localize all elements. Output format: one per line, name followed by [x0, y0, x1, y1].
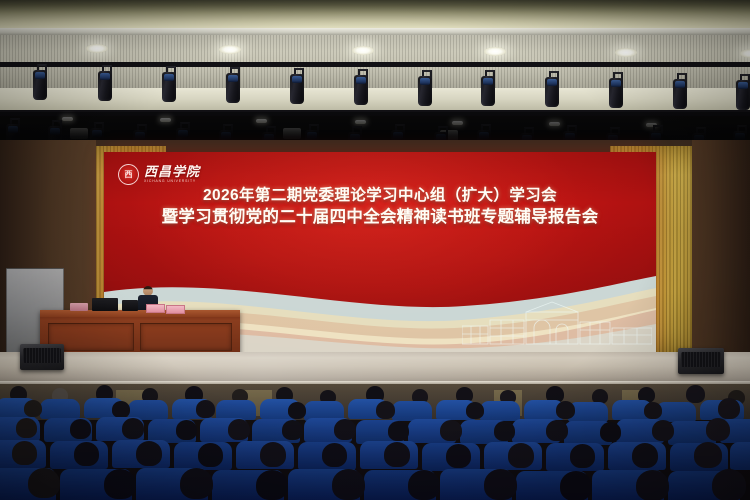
university-seal-icon: 西 [118, 164, 139, 185]
audience-head [198, 443, 223, 467]
desk-nameplate [166, 305, 185, 314]
downlight-icon [219, 45, 241, 54]
desk-nameplate [146, 304, 165, 313]
audience-head [686, 385, 705, 403]
audience-head [408, 470, 440, 500]
audience-head [74, 442, 99, 466]
audience-head [28, 468, 60, 498]
audience-head [712, 469, 746, 500]
stage-wall-right [692, 140, 750, 355]
audience-head [694, 442, 722, 468]
audience-head [706, 418, 730, 441]
campus-building-graphic-right [462, 300, 652, 348]
stage-floor-reflection [0, 352, 750, 384]
audience-head [180, 468, 213, 499]
ceiling-soffit [0, 0, 750, 30]
audience-head [288, 402, 306, 419]
seat [40, 399, 80, 419]
audience-head [332, 469, 365, 500]
podium-table [40, 310, 240, 357]
downlight-icon [615, 48, 637, 57]
audience-head [104, 469, 136, 499]
audience-head [282, 420, 303, 440]
audience-head [384, 442, 410, 467]
auditorium-photo: 西 西昌学院 XICHANG UNIVERSITY 2026年第二期党委理论学习… [0, 0, 750, 500]
audience-head [494, 421, 515, 441]
audience-head [16, 418, 37, 438]
audience-head [632, 443, 658, 468]
audience-head [718, 398, 740, 419]
university-logo: 西 西昌学院 XICHANG UNIVERSITY [118, 164, 200, 185]
audience-head [196, 400, 215, 418]
audience-head [560, 471, 592, 500]
seat [730, 442, 750, 470]
audience-head [70, 419, 91, 439]
audience-head [376, 401, 395, 419]
audience-head [644, 402, 662, 419]
audience-head [334, 419, 356, 440]
audience-head [24, 400, 42, 417]
audience-head [112, 401, 130, 418]
audience-head [122, 418, 144, 439]
audience-head [652, 420, 674, 441]
lighting-truss [0, 62, 750, 67]
seat [216, 400, 256, 420]
podium-panel [140, 323, 232, 351]
seat [392, 401, 432, 421]
audience-head [600, 422, 621, 442]
audience-seating [0, 384, 750, 500]
floor-monitor-speaker-right [678, 348, 724, 374]
podium-tabletop [40, 310, 240, 317]
audience-head [570, 444, 595, 468]
audience-head [322, 443, 347, 467]
downlight-icon [484, 47, 506, 56]
audience-head [176, 420, 197, 440]
downlight-icon [86, 44, 108, 53]
audience-head [508, 443, 534, 468]
seat [480, 401, 520, 421]
university-name-cn: 西昌学院 [144, 165, 200, 178]
ceiling-soffit-lip [0, 28, 750, 35]
audience-head [388, 421, 409, 441]
downlight-icon [352, 46, 374, 55]
ceiling [0, 0, 750, 152]
audience-head [260, 442, 286, 467]
banner-title-line-2: 暨学习贯彻党的二十届四中全会精神读书班专题辅导报告会 [104, 206, 656, 229]
audience-head [466, 402, 484, 419]
audience-head [256, 470, 288, 500]
floor-monitor-speaker-left [20, 344, 64, 370]
desk-nameplate [70, 303, 88, 311]
seat [656, 402, 696, 422]
audience-head [228, 419, 250, 440]
audience-head [484, 469, 517, 500]
audience-head [546, 420, 568, 441]
audience-head [556, 401, 575, 419]
audience-head [136, 441, 162, 466]
banner-title: 2026年第二期党委理论学习中心组（扩大）学习会 暨学习贯彻党的二十届四中全会精… [104, 185, 656, 229]
audience-head [12, 441, 37, 465]
audience-head [636, 470, 669, 500]
desk-monitor [122, 300, 138, 311]
audience-head [440, 420, 462, 441]
audience-head [446, 444, 471, 468]
desk-monitor [92, 298, 118, 311]
university-name-en: XICHANG UNIVERSITY [144, 180, 200, 183]
banner-title-line-1: 2026年第二期党委理论学习中心组（扩大）学习会 [104, 185, 656, 206]
